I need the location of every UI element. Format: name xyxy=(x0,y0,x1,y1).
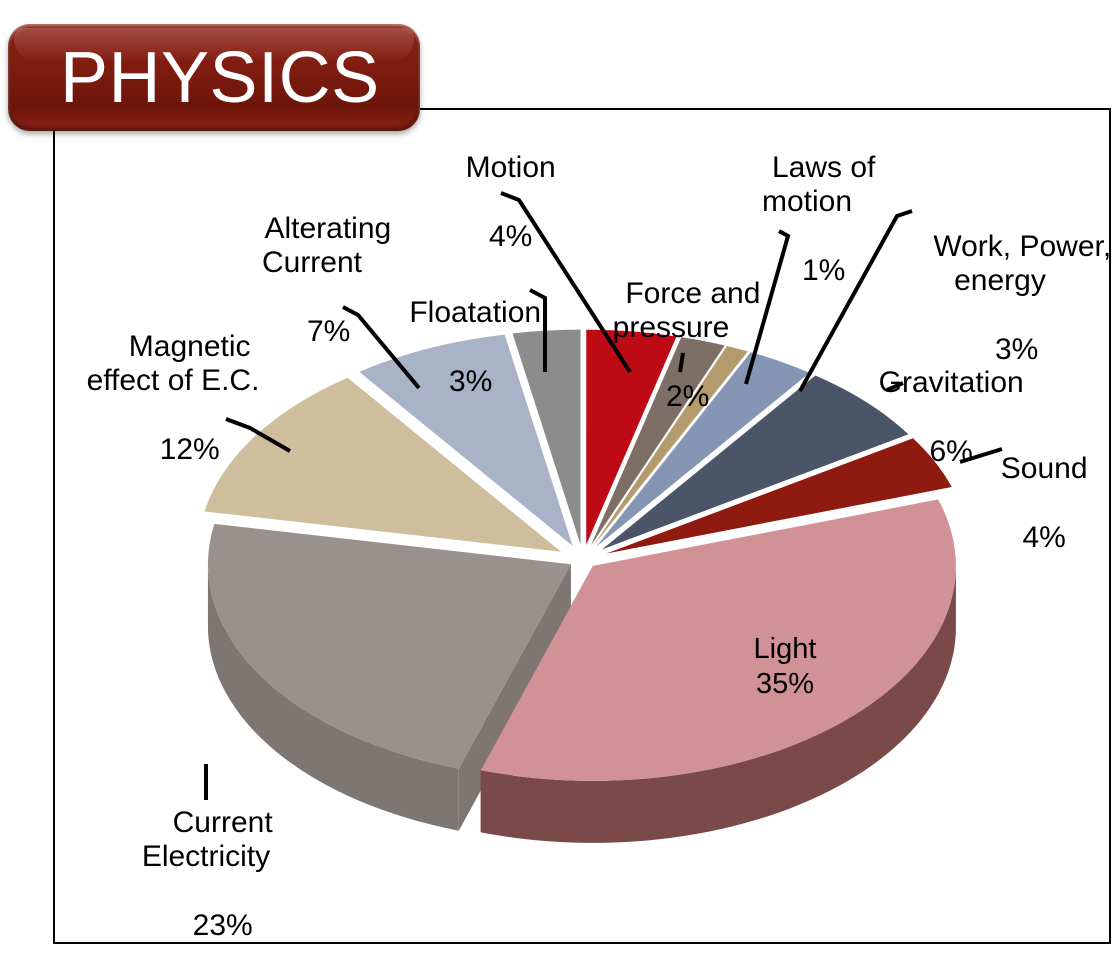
label-current-name: Current Electricity xyxy=(142,806,273,873)
label-magnetic-pct: 12% xyxy=(160,433,220,466)
label-floatation-name: Floatation xyxy=(409,296,541,329)
label-laws-pct: 1% xyxy=(802,254,845,287)
label-sound: Sound 4% xyxy=(960,418,1095,589)
label-alterating-pct: 7% xyxy=(307,315,350,348)
label-floatation: Floatation 3% xyxy=(376,262,532,433)
label-floatation-pct: 3% xyxy=(449,365,492,398)
label-light: Light 35% xyxy=(690,632,880,702)
label-force-pct: 2% xyxy=(666,380,709,413)
label-current-pct: 23% xyxy=(193,909,253,942)
label-work-name: Work, Power, energy xyxy=(933,230,1111,297)
label-current-electricity: Current Electricity 23% xyxy=(106,772,306,977)
page-title: PHYSICS xyxy=(60,42,380,114)
label-laws-name: Laws of motion xyxy=(762,151,875,218)
label-sound-name: Sound xyxy=(1001,452,1088,485)
pie-chart: Motion 4% Force and pressure 2% Laws of … xyxy=(0,0,1117,947)
label-light-name: Light xyxy=(754,633,817,665)
label-motion-pct: 4% xyxy=(489,220,532,253)
label-laws-of-motion: Laws of motion 1% xyxy=(737,117,877,322)
label-gravitation-name: Gravitation xyxy=(879,366,1024,399)
label-motion-name: Motion xyxy=(466,151,556,184)
label-light-pct: 35% xyxy=(756,668,814,700)
label-alterating-current: Alterating Current 7% xyxy=(232,178,392,383)
title-banner: PHYSICS xyxy=(8,24,420,131)
label-alterating-name: Alterating Current xyxy=(262,212,391,279)
label-sound-pct: 4% xyxy=(1022,521,1065,554)
label-force-and-pressure: Force and pressure 2% xyxy=(592,243,750,448)
